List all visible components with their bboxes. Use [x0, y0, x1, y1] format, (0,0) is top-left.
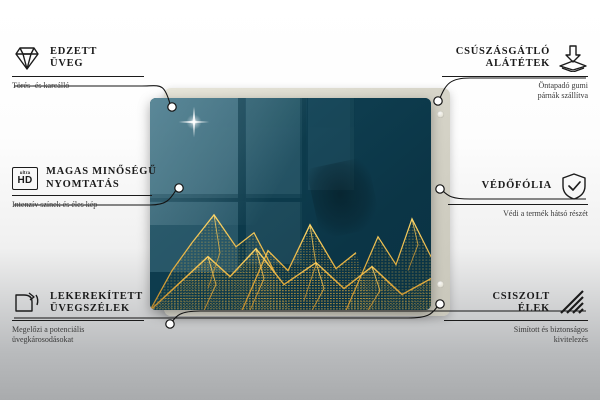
callout-divider: [12, 320, 144, 321]
callout-subtitle: Intenzív színek és éles kép: [12, 200, 168, 210]
sparkle-highlight-icon: [177, 105, 211, 139]
callout-tempered-glass: EDZETT ÜVEG Törés- és karcálló: [12, 44, 162, 91]
rounded-corner-icon: [12, 290, 42, 316]
callout-title-line: VÉDŐFÓLIA: [482, 180, 552, 193]
callout-rounded-glass-edges: LEKEREKÍTETT ÜVEGSZÉLEK Megelőzi a poten…: [12, 290, 162, 345]
callout-subtitle-line: Öntapadó gumi: [424, 81, 588, 91]
callout-subtitle-line: üvegkárosodásokat: [12, 335, 162, 345]
infographic-canvas: EDZETT ÜVEG Törés- és karcálló ultra HD …: [0, 0, 600, 400]
mountain-line-artwork: [150, 179, 431, 310]
callout-divider: [12, 195, 152, 196]
stacked-pads-arrow-icon: [558, 44, 588, 72]
callout-high-quality-print: ultra HD MAGAS MINŐSÉGŰ NYOMTATÁS Intenz…: [12, 166, 168, 210]
ultra-hd-icon: ultra HD: [12, 167, 38, 190]
callout-title-line: ÜVEGSZÉLEK: [50, 303, 143, 316]
callout-subtitle-line: Megelőzi a potenciális: [12, 325, 162, 335]
glass-surface: [150, 98, 431, 310]
callout-divider: [448, 204, 588, 205]
anti-slip-pad: [437, 281, 444, 288]
ultra-hd-icon-main-label: HD: [17, 176, 32, 186]
callout-subtitle: Törés- és karcálló: [12, 81, 162, 91]
callout-title-line: ÜVEG: [50, 58, 97, 71]
callout-protective-film: VÉDŐFÓLIA Védi a termék hátsó részét: [432, 172, 588, 219]
anti-slip-pad: [437, 111, 444, 118]
callout-subtitle: Védi a termék hátsó részét: [432, 209, 588, 219]
callout-title-line: MAGAS MINŐSÉGŰ: [46, 166, 157, 179]
callout-subtitle-line: Simított és biztonságos: [428, 325, 588, 335]
callout-title-line: LEKEREKÍTETT: [50, 291, 143, 304]
hatched-triangle-icon: [558, 290, 588, 316]
callout-title-line: NYOMTATÁS: [46, 179, 157, 192]
shield-check-icon: [560, 172, 588, 200]
diamond-icon: [12, 44, 42, 72]
leader-dot: [166, 320, 174, 328]
callout-title-line: CSÚSZÁSGÁTLÓ: [456, 46, 550, 59]
product-image: [150, 88, 450, 316]
callout-divider: [12, 76, 144, 77]
callout-anti-slip-pads: CSÚSZÁSGÁTLÓ ALÁTÉTEK Öntapadó gumi párn…: [424, 44, 588, 101]
callout-divider: [442, 76, 588, 77]
callout-title-line: CSISZOLT: [492, 291, 550, 304]
callout-title-line: EDZETT: [50, 46, 97, 59]
callout-polished-edges: CSISZOLT ÉLEK Simított és biztonságos ki…: [428, 290, 588, 345]
callout-title-line: ALÁTÉTEK: [456, 58, 550, 71]
callout-subtitle-line: kivitelezés: [428, 335, 588, 345]
callout-subtitle-line: párnák szállítva: [424, 91, 588, 101]
callout-title-line: ÉLEK: [492, 303, 550, 316]
callout-divider: [444, 320, 588, 321]
